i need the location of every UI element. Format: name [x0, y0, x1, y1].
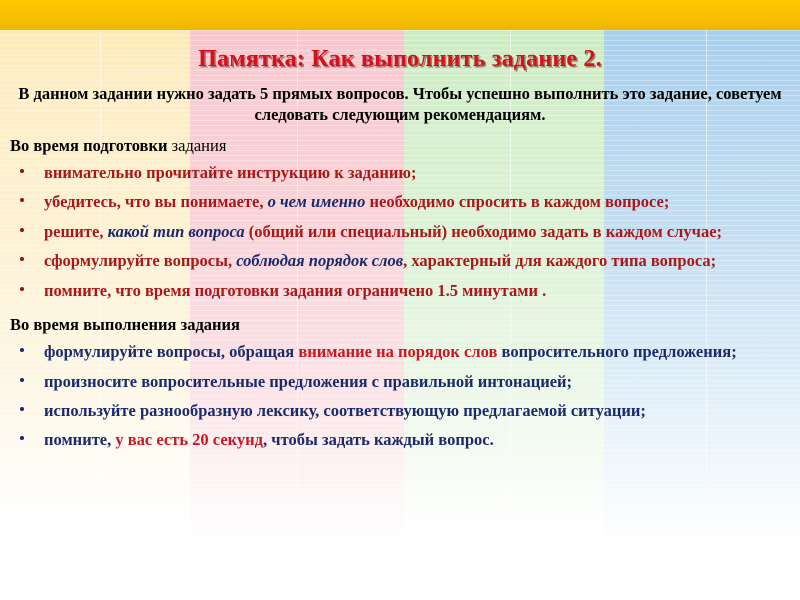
section-heading-preparation-rest: задания: [167, 136, 226, 155]
subtitle: Памятка: Как выполнить задание 2.: [0, 46, 800, 73]
list-item-text: внимательно прочитайте инструкцию к зада…: [44, 163, 416, 182]
list-item-text: решите,: [44, 222, 108, 241]
header-bar: [0, 0, 800, 30]
list-item: используйте разнообразную лексику, соотв…: [10, 396, 790, 425]
list-item-text: , чтобы задать каждый вопрос.: [263, 430, 494, 449]
section-heading-performance: Во время выполнения задания: [10, 315, 800, 335]
list-item-text: помните,: [44, 430, 115, 449]
slide-content: Памятка: Как выполнить задание 2. В данн…: [0, 30, 800, 600]
list-item-text: вопросительного предложения;: [497, 342, 736, 361]
list-item-text: необходимо спросить в каждом вопросе;: [365, 192, 669, 211]
list-item-text: , характерный для каждого типа вопроса;: [403, 251, 716, 270]
list-item-text: используйте разнообразную лексику, соотв…: [44, 401, 646, 420]
list-item: помните, что время подготовки задания ог…: [10, 276, 790, 305]
list-item-text: формулируйте вопросы, обращая: [44, 342, 298, 361]
bullet-list-performance: формулируйте вопросы, обращая внимание н…: [0, 337, 800, 455]
list-item-accent-text: о чем именно: [268, 192, 366, 211]
list-item-accent-text: у вас есть 20 секунд: [115, 430, 263, 449]
list-item: сформулируйте вопросы, соблюдая порядок …: [10, 246, 790, 275]
intro-paragraph: В данном задании нужно задать 5 прямых в…: [14, 83, 786, 126]
list-item: решите, какой тип вопроса (общий или спе…: [10, 217, 790, 246]
section-heading-preparation-bold: Во время подготовки: [10, 136, 167, 155]
list-item-accent-text: внимание на порядок слов: [298, 342, 497, 361]
list-item-text: помните, что время подготовки задания ог…: [44, 281, 546, 300]
list-item-text: сформулируйте вопросы,: [44, 251, 236, 270]
bullet-list-preparation: внимательно прочитайте инструкцию к зада…: [0, 158, 800, 305]
list-item-text: произносите вопросительные предложения с…: [44, 372, 572, 391]
list-item-text: (общий или специальный) необходимо задат…: [245, 222, 722, 241]
list-item: внимательно прочитайте инструкцию к зада…: [10, 158, 790, 187]
section-heading-preparation: Во время подготовки задания: [10, 136, 800, 156]
list-item: помните, у вас есть 20 секунд, чтобы зад…: [10, 425, 790, 454]
list-item: произносите вопросительные предложения с…: [10, 367, 790, 396]
list-item-accent-text: соблюдая порядок слов: [236, 251, 403, 270]
list-item: формулируйте вопросы, обращая внимание н…: [10, 337, 790, 366]
list-item: убедитесь, что вы понимаете, о чем именн…: [10, 187, 790, 216]
list-item-accent-text: какой тип вопроса: [108, 222, 245, 241]
list-item-text: убедитесь, что вы понимаете,: [44, 192, 268, 211]
section-heading-performance-bold: Во время выполнения задания: [10, 315, 240, 334]
